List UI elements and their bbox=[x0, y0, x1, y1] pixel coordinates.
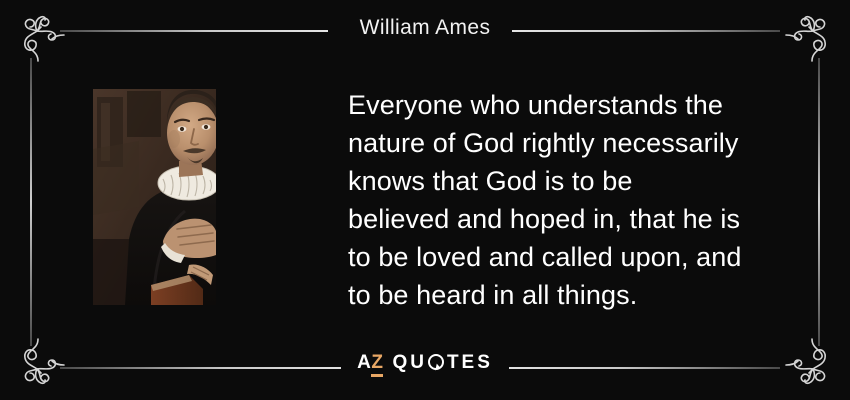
speech-bubble-icon bbox=[428, 354, 445, 371]
author-name: William Ames bbox=[342, 16, 509, 40]
quote-line: nature of God rightly necessarily bbox=[348, 124, 800, 162]
brand-quotes-part-one: QU bbox=[392, 352, 427, 373]
brand-letter-z: Z bbox=[371, 352, 383, 377]
quote-text: Everyone who understands the nature of G… bbox=[348, 86, 800, 314]
brand-quotes-part-two: TES bbox=[447, 352, 493, 373]
quote-line: to be loved and called upon, and bbox=[348, 238, 800, 276]
brand-logo[interactable]: AZQUTES bbox=[0, 353, 850, 372]
frame-line-left bbox=[30, 58, 32, 346]
quote-line: knows that God is to be bbox=[348, 162, 800, 200]
brand-letter-a: A bbox=[357, 352, 371, 373]
quote-line: to be heard in all things. bbox=[348, 276, 800, 314]
brand-az: AZ bbox=[357, 353, 383, 372]
frame-line-right bbox=[818, 58, 820, 346]
brand-logo-inner: AZQUTES bbox=[341, 353, 509, 372]
quote-card: William Ames bbox=[0, 0, 850, 400]
portrait-image bbox=[93, 89, 216, 305]
quote-line: believed and hoped in, that he is bbox=[348, 200, 800, 238]
quote-line: Everyone who understands the bbox=[348, 86, 800, 124]
brand-quotes-word: QUTES bbox=[392, 353, 492, 372]
page-title: William Ames bbox=[0, 16, 850, 40]
